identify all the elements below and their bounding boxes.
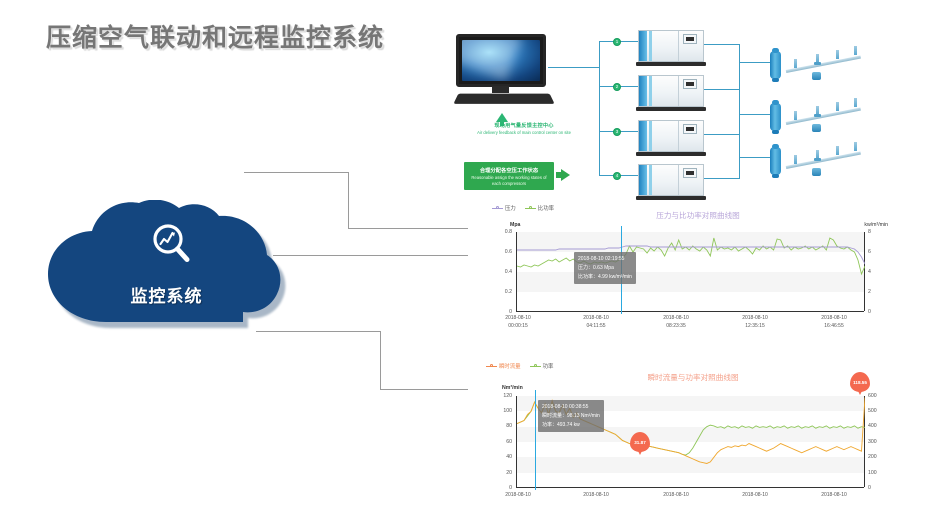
diagram-caption-en: Air delivery feedback of main control ce… xyxy=(464,130,584,136)
chart2-xtick: 2018-08-10 xyxy=(568,492,624,500)
distribution-rail xyxy=(786,56,861,73)
diagram-caption-cn: 现场用气量反馈主控中心 xyxy=(464,122,584,129)
chart1-series-canvas xyxy=(517,232,865,312)
chart1-y2tick: 4 xyxy=(868,269,871,275)
connector-line-2c xyxy=(372,255,470,257)
node-badge-3: 3 xyxy=(613,128,621,136)
legend-label: 功率 xyxy=(543,362,554,370)
tooltip-line-1: 瞬时流量：98.13 Nm³/min xyxy=(542,412,600,421)
outlet-group xyxy=(770,100,890,140)
chart1-y2tick: 0 xyxy=(868,309,871,315)
xtick-date: 2018-08-10 xyxy=(742,492,768,498)
chart2-ytick: 80 xyxy=(494,423,512,429)
xtick-time: 12:35:15 xyxy=(745,323,764,329)
drop-pipe xyxy=(794,155,797,164)
desktop-monitor-icon xyxy=(456,34,546,98)
outlet-group xyxy=(770,144,890,184)
xtick-date: 2018-08-10 xyxy=(663,492,689,498)
drop-pipe xyxy=(854,46,857,55)
chart2-y2tick: 300 xyxy=(868,439,877,445)
legend-dash-icon xyxy=(530,366,541,367)
pipe-to-tank-2 xyxy=(739,114,771,115)
legend-dash-icon xyxy=(492,208,503,209)
drop-pipe xyxy=(816,150,819,159)
node-badge-4: 4 xyxy=(613,172,621,180)
xtick-date: 2018-08-10 xyxy=(821,315,847,321)
chart1-xtick: 2018-08-10 00:00:15 xyxy=(490,315,546,330)
slide-root: 压缩空气联动和远程监控系统 监控系统 xyxy=(0,0,945,529)
xtick-date: 2018-08-10 xyxy=(663,315,689,321)
compressor-unit xyxy=(638,75,704,107)
distribution-rail xyxy=(786,152,861,169)
compressor-unit xyxy=(638,30,704,62)
legend-item-power[interactable]: 功率 xyxy=(530,362,554,370)
drop-pipe xyxy=(836,102,839,111)
max-value-pin[interactable]: 118.55 xyxy=(850,372,870,392)
min-value-pin[interactable]: 31.87 xyxy=(630,432,650,452)
drop-pipe xyxy=(854,98,857,107)
chart2-xtick: 2018-08-10 xyxy=(806,492,862,500)
chart1-xtick: 2018-08-10 16:46:55 xyxy=(806,315,862,330)
drop-pipe xyxy=(836,146,839,155)
monitoring-cloud[interactable]: 监控系统 xyxy=(44,200,289,335)
connector-line-3c xyxy=(380,389,472,391)
drop-pipe xyxy=(854,142,857,151)
chart-magnifier-icon xyxy=(149,221,195,267)
chart2-y2tick: 0 xyxy=(868,485,871,491)
air-tank-icon xyxy=(770,51,781,79)
node-label-3: 3 xyxy=(614,129,620,135)
xtick-time: 08:23:35 xyxy=(666,323,685,329)
green-right-arrow-icon xyxy=(561,169,570,181)
chart1-y2tick: 8 xyxy=(868,229,871,235)
outlet-group xyxy=(770,48,890,88)
compressor-unit xyxy=(638,120,704,152)
compressor-unit xyxy=(638,164,704,196)
pipe-bus-vertical xyxy=(599,41,600,176)
connector-line-1b xyxy=(348,172,350,229)
pin-label: 118.55 xyxy=(853,380,867,385)
node-badge-1: 1 xyxy=(613,38,621,46)
legend-label: 瞬时流量 xyxy=(499,362,521,370)
legend-dash-icon xyxy=(486,366,497,367)
connector-line-1c xyxy=(348,228,468,230)
chart2-ytick: 0 xyxy=(494,485,512,491)
chart2-xtick: 2018-08-10 xyxy=(648,492,704,500)
drop-pipe xyxy=(794,59,797,68)
pipe-out-2 xyxy=(704,89,740,90)
chart1-y2tick: 2 xyxy=(868,289,871,295)
chart1-tooltip: 2018-08-10 02:19:55 压力：0.63 Mpa 比功率：4.99… xyxy=(574,252,636,284)
node-label-4: 4 xyxy=(614,173,620,179)
chart2-tooltip: 2018-08-10 00:38:55 瞬时流量：98.13 Nm³/min 功… xyxy=(538,400,604,432)
pipe-to-tank-1 xyxy=(739,62,771,63)
distribution-rail xyxy=(786,108,861,125)
connector-line-1 xyxy=(244,172,349,174)
chart1-legend[interactable]: 压力 比功率 xyxy=(492,204,554,212)
pipe-pc-to-bus xyxy=(548,67,600,68)
air-tank-icon xyxy=(770,103,781,131)
legend-item-pressure[interactable]: 压力 xyxy=(492,204,516,212)
chart1-y2tick: 6 xyxy=(868,249,871,255)
air-tank-icon xyxy=(770,147,781,175)
chart1-y-unit: Mpa xyxy=(510,222,520,228)
legend-dash-icon xyxy=(525,208,536,209)
system-schematic-diagram: 现场用气量反馈主控中心 Air delivery feedback of mai… xyxy=(430,14,945,204)
chart1-xtick: 2018-08-10 08:23:35 xyxy=(648,315,704,330)
tooltip-line-1: 压力：0.63 Mpa xyxy=(578,264,632,273)
pressure-power-chart[interactable]: 压力 比功率 压力与比功率对照曲线图 Mpa kw/m³/min 0.8 0.6… xyxy=(468,202,888,337)
chart2-y2tick: 100 xyxy=(868,470,877,476)
tooltip-timestamp: 2018-08-10 02:19:55 xyxy=(578,255,632,264)
cloud-label: 监控系统 xyxy=(44,282,289,307)
chart2-xtick: 2018-08-10 xyxy=(727,492,783,500)
chart1-ytick: 0.2 xyxy=(494,289,512,295)
legend-item-specific-power[interactable]: 比功率 xyxy=(525,204,554,212)
callout-label-cn: 合理分配各空压工作状态 xyxy=(464,166,554,174)
chart1-ytick: 0.4 xyxy=(494,269,512,275)
chart2-xtick: 2018-08-10 xyxy=(490,492,546,500)
xtick-date: 2018-08-10 xyxy=(583,492,609,498)
connector-line-3b xyxy=(380,331,382,390)
chart2-ytick: 120 xyxy=(494,393,512,399)
chart2-y2tick: 400 xyxy=(868,423,877,429)
xtick-date: 2018-08-10 xyxy=(583,315,609,321)
chart1-y2-unit: kw/m³/min xyxy=(864,222,888,228)
chart2-y2tick: 200 xyxy=(868,454,877,460)
xtick-time: 16:46:55 xyxy=(824,323,843,329)
page-title: 压缩空气联动和远程监控系统 xyxy=(46,18,384,54)
callout-box: 合理分配各空压工作状态 Reasonable assign the workin… xyxy=(464,162,554,190)
chart1-xtick: 2018-08-10 04:11:55 xyxy=(568,315,624,330)
callout-label-en: Reasonable assign the working states of … xyxy=(468,175,550,186)
chart2-y2tick: 600 xyxy=(868,393,877,399)
drop-pipe xyxy=(816,54,819,63)
chart2-ytick: 100 xyxy=(494,408,512,414)
pipe-out-1 xyxy=(704,44,740,45)
node-badge-2: 2 xyxy=(613,83,621,91)
tooltip-timestamp: 2018-08-10 00:38:55 xyxy=(542,403,600,412)
xtick-date: 2018-08-10 xyxy=(505,492,531,498)
legend-label: 比功率 xyxy=(538,204,554,212)
chart2-title: 瞬时流量与功率对照曲线图 xyxy=(578,372,808,383)
chart1-title: 压力与比功率对照曲线图 xyxy=(588,210,808,221)
node-label-2: 2 xyxy=(614,84,620,90)
xtick-date: 2018-08-10 xyxy=(821,492,847,498)
chart2-cursor-line[interactable] xyxy=(535,390,536,490)
chart2-legend[interactable]: 瞬时流量 功率 xyxy=(486,362,553,370)
chart1-ytick: 0.8 xyxy=(494,229,512,235)
chart1-ytick: 0.6 xyxy=(494,249,512,255)
pipe-to-tank-3 xyxy=(739,157,771,158)
pneumatic-tool-icon xyxy=(812,124,821,132)
chart2-y2tick: 500 xyxy=(868,408,877,414)
drop-pipe xyxy=(816,106,819,115)
xtick-time: 00:00:15 xyxy=(508,323,527,329)
pin-label: 31.87 xyxy=(634,440,646,445)
pneumatic-tool-icon xyxy=(812,168,821,176)
pipe-out-3 xyxy=(704,134,740,135)
pipe-out-4 xyxy=(704,178,740,179)
xtick-date: 2018-08-10 xyxy=(505,315,531,321)
pneumatic-tool-icon xyxy=(812,72,821,80)
xtick-date: 2018-08-10 xyxy=(742,315,768,321)
legend-item-instant-flow[interactable]: 瞬时流量 xyxy=(486,362,521,370)
tooltip-line-2: 比功率：4.99 kw/m³/min xyxy=(578,273,632,282)
node-label-1: 1 xyxy=(614,39,620,45)
drop-pipe xyxy=(836,50,839,59)
chart2-ytick: 20 xyxy=(494,470,512,476)
chart1-xtick: 2018-08-10 12:35:15 xyxy=(727,315,783,330)
xtick-time: 04:11:55 xyxy=(586,323,605,329)
chart2-ytick: 40 xyxy=(494,454,512,460)
tooltip-line-2: 功率：493.74 kw xyxy=(542,421,600,430)
drop-pipe xyxy=(794,111,797,120)
flow-power-chart[interactable]: 瞬时流量 功率 瞬时流量与功率对照曲线图 Nm³/min 120 100 80 … xyxy=(468,362,888,512)
legend-label: 压力 xyxy=(505,204,516,212)
chart2-ytick: 60 xyxy=(494,439,512,445)
chart1-plot-area[interactable] xyxy=(516,232,864,312)
pipe-collector-vertical xyxy=(739,44,740,179)
chart2-y-unit: Nm³/min xyxy=(502,385,523,391)
